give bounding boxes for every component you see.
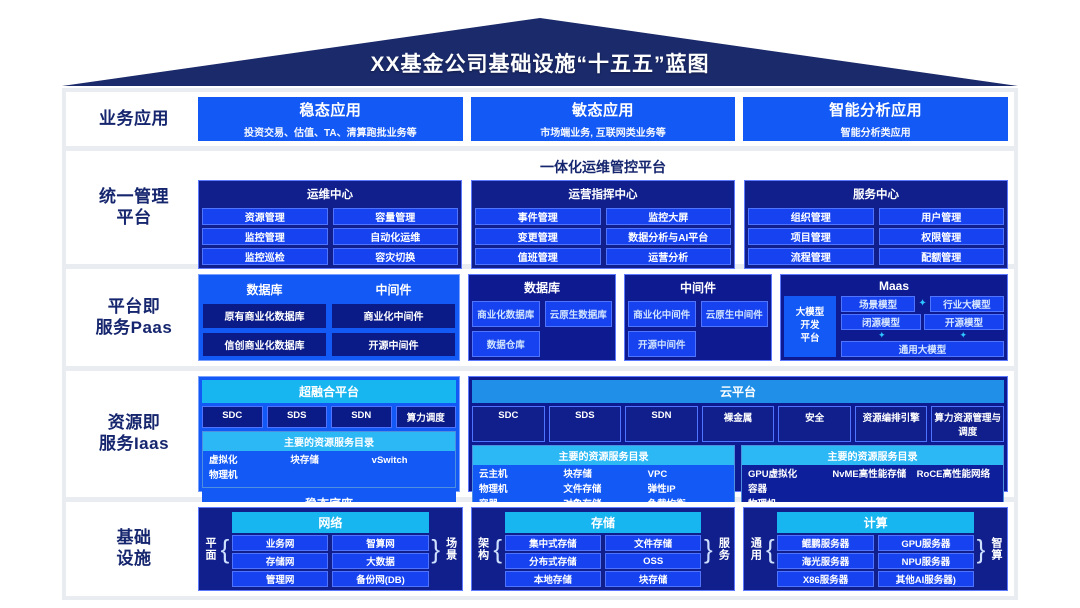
- app-card-stable[interactable]: 稳态应用 投资交易、估值、TA、清算跑批业务等: [198, 97, 463, 141]
- row-paas: 平台即 服务Paas 数据库 原有商业化数据库 信创商业化数据库 中间件 商业化…: [66, 269, 1014, 366]
- tile-big-data-network[interactable]: 大数据: [332, 553, 428, 569]
- catalog-column: 块存储: [290, 455, 367, 483]
- cap-cloud-sdc[interactable]: SDC: [472, 406, 545, 442]
- center-operations-command-line: 值班管理 运营分析: [475, 248, 731, 265]
- tile-monitoring-inspection[interactable]: 监控巡检: [202, 248, 328, 265]
- row-body-infrastructure: 平面 { 网络 业务网 智算网 存储网 大数据: [198, 507, 1008, 591]
- item-physical-machine[interactable]: 物理机: [209, 470, 286, 483]
- tile-commercial-database[interactable]: 商业化数据库: [472, 301, 540, 327]
- hyperconverged-platform-title: 超融合平台: [202, 380, 456, 403]
- cloud-catalog-general-title: 主要的资源服务目录: [473, 446, 734, 465]
- tile-distributed-storage[interactable]: 分布式存储: [505, 553, 601, 569]
- tile-x86-server[interactable]: X86服务器: [777, 571, 873, 587]
- compute-right-label: 智算: [988, 512, 1004, 586]
- paas-cloud-middleware-line: 商业化中间件 云原生中间件: [628, 301, 768, 327]
- tile-permission-management[interactable]: 权限管理: [879, 228, 1005, 245]
- center-operations-command-title: 运营指挥中心: [475, 184, 731, 205]
- row-label-iaas: 资源即 服务Iaas: [70, 376, 198, 492]
- row-label-paas: 平台即 服务Paas: [70, 274, 198, 361]
- row-body-paas: 数据库 原有商业化数据库 信创商业化数据库 中间件 商业化中间件 开源中间件 数…: [198, 274, 1008, 361]
- storage-line: 集中式存储 文件存储: [505, 535, 702, 551]
- storage-core: 存储 集中式存储 文件存储 分布式存储 OSS 本地存储: [505, 512, 702, 586]
- paas-cloud-database-title: 数据库: [472, 278, 612, 298]
- item-physical-machine[interactable]: 物理机: [479, 484, 559, 497]
- architecture-panel: 业务应用 稳态应用 投资交易、估值、TA、清算跑批业务等 敏态应用 市场端业务,…: [62, 88, 1018, 600]
- management-platform-wrapper: 一体化运维管控平台 运维中心 资源管理 容量管理 监控管理: [198, 156, 1008, 259]
- tile-event-management[interactable]: 事件管理: [475, 208, 601, 225]
- center-ops-line: 监控管理 自动化运维: [202, 228, 458, 245]
- tile-process-management[interactable]: 流程管理: [748, 248, 874, 265]
- center-ops-line: 监控巡检 容灾切换: [202, 248, 458, 265]
- app-card-agile-subtitle: 市场端业务, 互联网类业务等: [540, 124, 666, 139]
- cloud-platform-title: 云平台: [472, 380, 1004, 403]
- tile-operations-analysis[interactable]: 运营分析: [606, 248, 732, 265]
- item-vpc[interactable]: VPC: [648, 469, 728, 482]
- maas-arrow-row: ✦ ✦: [841, 332, 1004, 339]
- row-business-application: 业务应用 稳态应用 投资交易、估值、TA、清算跑批业务等 敏态应用 市场端业务,…: [66, 92, 1014, 146]
- paas-cloud-middleware-group: 中间件 商业化中间件 云原生中间件 开源中间件: [624, 274, 772, 361]
- row-infrastructure: 基础 设施 平面 { 网络 业务网 智算网 存储网: [66, 502, 1014, 596]
- catalog-column: 虚拟化 物理机: [209, 455, 286, 483]
- maas-row-source: 闭源模型 开源模型: [841, 314, 1004, 330]
- left-brace-icon: {: [765, 512, 775, 586]
- row-body-business-application: 稳态应用 投资交易、估值、TA、清算跑批业务等 敏态应用 市场端业务, 互联网类…: [198, 97, 1008, 141]
- maas-title: Maas: [784, 278, 1004, 296]
- hyperconverged-catalogs: 主要的资源服务目录 虚拟化 物理机 块存储 vSwitc: [202, 431, 456, 488]
- maas-model-stack: 场景模型 ✦ 行业大模型 闭源模型 开源模型 ✦ ✦: [841, 296, 1004, 357]
- tile-storage-network[interactable]: 存储网: [232, 553, 328, 569]
- paas-cloud-middleware-title: 中间件: [628, 278, 768, 298]
- row-iaas: 资源即 服务Iaas 超融合平台 SDC SDS SDN 算力调度 主要的资源服…: [66, 371, 1014, 497]
- row-body-iaas: 超融合平台 SDC SDS SDN 算力调度 主要的资源服务目录 虚拟化: [198, 376, 1008, 492]
- app-card-intelligent-analysis-subtitle: 智能分析类应用: [841, 124, 911, 139]
- row-body-unified-management-platform: 一体化运维管控平台 运维中心 资源管理 容量管理 监控管理: [198, 156, 1008, 259]
- plus-connector-icon: ✦: [918, 299, 926, 309]
- paas-cloud-native-blocks: 数据库 商业化数据库 云原生数据库 数据仓库: [468, 274, 772, 361]
- right-brace-icon: }: [431, 512, 441, 586]
- paas-cloud-database-line: 数据仓库: [472, 331, 612, 357]
- tile-closed-source-model[interactable]: 闭源模型: [841, 314, 921, 330]
- hyperconverged-catalog-title: 主要的资源服务目录: [203, 432, 455, 451]
- tile-scenario-model[interactable]: 场景模型: [841, 296, 915, 312]
- tile-disaster-recovery-switch[interactable]: 容灾切换: [333, 248, 459, 265]
- paas-cloud-database-group: 数据库 商业化数据库 云原生数据库 数据仓库: [468, 274, 616, 361]
- center-service-line: 项目管理 权限管理: [748, 228, 1004, 245]
- item-container-ai[interactable]: 容器: [748, 484, 828, 497]
- left-brace-icon: {: [220, 512, 230, 586]
- tile-commercial-middleware[interactable]: 商业化中间件: [332, 304, 455, 328]
- maas-body: 大模型 开发 平台 场景模型 ✦ 行业大模型 闭源模型 开源模型: [784, 296, 1004, 357]
- paas-legacy-middleware-title: 中间件: [332, 279, 455, 299]
- tile-oss[interactable]: OSS: [605, 553, 701, 569]
- tile-automated-ops[interactable]: 自动化运维: [333, 228, 459, 245]
- compute-line: 鲲鹏服务器 GPU服务器: [777, 535, 974, 551]
- maas-row-scenario: 场景模型 ✦ 行业大模型: [841, 296, 1004, 312]
- infra-compute-block: 通用 { 计算 鲲鹏服务器 GPU服务器 海光服务器 NPU服务器: [743, 507, 1008, 591]
- tile-xinchuang-commercial-database[interactable]: 信创商业化数据库: [203, 333, 326, 357]
- app-card-intelligent-analysis-title: 智能分析应用: [829, 99, 922, 120]
- tile-backup-network-db[interactable]: 备份网(DB): [332, 571, 428, 587]
- item-block-storage[interactable]: 块存储: [563, 469, 643, 482]
- cap-compute-scheduling[interactable]: 算力调度: [396, 406, 457, 428]
- center-operations-command-line: 变更管理 数据分析与AI平台: [475, 228, 731, 245]
- item-gpu-virtualization[interactable]: GPU虚拟化: [748, 469, 828, 482]
- center-service-line: 组织管理 用户管理: [748, 208, 1004, 225]
- center-ops-title: 运维中心: [202, 184, 458, 205]
- center-operations-command[interactable]: 运营指挥中心 事件管理 监控大屏 变更管理 数据分析与AI平台: [471, 180, 735, 269]
- center-service-line: 流程管理 配额管理: [748, 248, 1004, 265]
- tile-commercial-middleware-cloud[interactable]: 商业化中间件: [628, 301, 696, 327]
- hyperconverged-resource-catalog: 主要的资源服务目录 虚拟化 物理机 块存储 vSwitc: [202, 431, 456, 488]
- item-block-storage[interactable]: 块存储: [290, 455, 367, 468]
- app-card-stable-subtitle: 投资交易、估值、TA、清算跑批业务等: [244, 124, 417, 139]
- management-centers: 运维中心 资源管理 容量管理 监控管理 自动化运维: [198, 180, 1008, 269]
- cloud-capability-row: SDC SDS SDN 裸金属 安全 资源编排引擎 算力资源管理与调度: [472, 406, 1004, 442]
- tile-management-network[interactable]: 管理网: [232, 571, 328, 587]
- tile-opensource-middleware-cloud[interactable]: 开源中间件: [628, 331, 696, 357]
- tile-duty-management[interactable]: 值班管理: [475, 248, 601, 265]
- center-service[interactable]: 服务中心 组织管理 用户管理 项目管理 权限管理: [744, 180, 1008, 269]
- item-vswitch[interactable]: vSwitch: [372, 455, 449, 468]
- paas-cloud-database-grid: 商业化数据库 云原生数据库 数据仓库: [472, 301, 612, 357]
- right-brace-icon: }: [703, 512, 713, 586]
- center-ops[interactable]: 运维中心 资源管理 容量管理 监控管理 自动化运维: [198, 180, 462, 269]
- paas-cloud-middleware-grid: 商业化中间件 云原生中间件 开源中间件: [628, 301, 768, 357]
- cap-resource-orchestration-engine[interactable]: 资源编排引擎: [855, 406, 928, 442]
- network-left-label: 平面: [202, 512, 218, 586]
- tile-change-management[interactable]: 变更管理: [475, 228, 601, 245]
- hyperconverged-capability-row: SDC SDS SDN 算力调度: [202, 406, 456, 428]
- paas-cloud-database-line: 商业化数据库 云原生数据库: [472, 301, 612, 327]
- compute-title: 计算: [777, 512, 974, 533]
- tile-general-large-model[interactable]: 通用大模型: [841, 341, 1004, 357]
- item-file-storage[interactable]: 文件存储: [563, 484, 643, 497]
- tile-opensource-middleware[interactable]: 开源中间件: [332, 333, 455, 357]
- cap-bare-metal[interactable]: 裸金属: [702, 406, 775, 442]
- compute-line: X86服务器 其他AI服务器): [777, 571, 974, 587]
- tile-block-storage[interactable]: 块存储: [605, 571, 701, 587]
- roof-header: XX基金公司基础设施“十五五”蓝图: [62, 18, 1018, 86]
- storage-line: 本地存储 块存储: [505, 571, 702, 587]
- paas-cloud-middleware-line: 开源中间件: [628, 331, 768, 357]
- paas-legacy-middleware-column: 中间件 商业化中间件 开源中间件: [332, 279, 455, 356]
- center-ops-grid: 资源管理 容量管理 监控管理 自动化运维 监控巡检 容灾切换: [202, 208, 458, 265]
- tile-ai-compute-network[interactable]: 智算网: [332, 535, 428, 551]
- infra-storage-block: 架构 { 存储 集中式存储 文件存储 分布式存储 OSS: [471, 507, 736, 591]
- maas-row-general: 通用大模型: [841, 341, 1004, 357]
- cloud-platform-block: 云平台 SDC SDS SDN 裸金属 安全 资源编排引擎 算力资源管理与调度 …: [468, 376, 1008, 492]
- hyperconverged-catalog-body: 虚拟化 物理机 块存储 vSwitch: [203, 451, 455, 487]
- storage-right-label: 服务: [715, 512, 731, 586]
- cap-compute-resource-management[interactable]: 算力资源管理与调度: [931, 406, 1004, 442]
- item-nvme-high-performance-storage[interactable]: NvME高性能存储: [832, 469, 912, 482]
- paas-legacy-block: 数据库 原有商业化数据库 信创商业化数据库 中间件 商业化中间件 开源中间件: [198, 274, 460, 361]
- tile-data-warehouse[interactable]: 数据仓库: [472, 331, 540, 357]
- cap-cloud-sdn[interactable]: SDN: [625, 406, 698, 442]
- network-title: 网络: [232, 512, 429, 533]
- tile-cloud-native-database[interactable]: 云原生数据库: [545, 301, 613, 327]
- storage-left-label: 架构: [475, 512, 491, 586]
- tile-monitoring-management[interactable]: 监控管理: [202, 228, 328, 245]
- tile-user-management[interactable]: 用户管理: [879, 208, 1005, 225]
- app-card-agile[interactable]: 敏态应用 市场端业务, 互联网类业务等: [471, 97, 736, 141]
- network-line: 业务网 智算网: [232, 535, 429, 551]
- cap-security[interactable]: 安全: [778, 406, 851, 442]
- center-operations-command-line: 事件管理 监控大屏: [475, 208, 731, 225]
- app-card-agile-title: 敏态应用: [572, 99, 634, 120]
- maas-block: Maas 大模型 开发 平台 场景模型 ✦ 行业大模型 闭源模型 开源模型: [780, 274, 1008, 361]
- row-label-infrastructure: 基础 设施: [70, 507, 198, 591]
- tile-monitoring-dashboard[interactable]: 监控大屏: [606, 208, 732, 225]
- tile-open-source-model[interactable]: 开源模型: [924, 314, 1004, 330]
- integrated-ops-platform-title: 一体化运维管控平台: [198, 156, 1008, 180]
- tile-resource-management[interactable]: 资源管理: [202, 208, 328, 225]
- tile-npu-server[interactable]: NPU服务器: [878, 553, 974, 569]
- center-service-grid: 组织管理 用户管理 项目管理 权限管理 流程管理 配额管理: [748, 208, 1004, 265]
- tile-business-network[interactable]: 业务网: [232, 535, 328, 551]
- storage-title: 存储: [505, 512, 702, 533]
- row-label-unified-management-platform: 统一管理 平台: [70, 156, 198, 259]
- tile-gpu-server[interactable]: GPU服务器: [878, 535, 974, 551]
- blueprint-canvas: XX基金公司基础设施“十五五”蓝图 业务应用 稳态应用 投资交易、估值、TA、清…: [0, 0, 1080, 608]
- tile-quota-management[interactable]: 配额管理: [879, 248, 1005, 265]
- cap-sdn[interactable]: SDN: [331, 406, 392, 428]
- paas-legacy-database-title: 数据库: [203, 279, 326, 299]
- tile-industry-large-model[interactable]: 行业大模型: [930, 296, 1004, 312]
- cap-sdc[interactable]: SDC: [202, 406, 263, 428]
- tile-file-storage[interactable]: 文件存储: [605, 535, 701, 551]
- arrow-up-icon: ✦: [878, 331, 886, 340]
- network-line: 管理网 备份网(DB): [232, 571, 429, 587]
- row-unified-management-platform: 统一管理 平台 一体化运维管控平台 运维中心 资源管理 容量管理: [66, 151, 1014, 264]
- tile-kunpeng-server[interactable]: 鲲鹏服务器: [777, 535, 873, 551]
- tile-project-management[interactable]: 项目管理: [748, 228, 874, 245]
- storage-line: 分布式存储 OSS: [505, 553, 702, 569]
- center-service-title: 服务中心: [748, 184, 1004, 205]
- network-right-label: 场景: [443, 512, 459, 586]
- arrow-up-icon: ✦: [959, 331, 967, 340]
- compute-left-label: 通用: [747, 512, 763, 586]
- item-virtualization[interactable]: 虚拟化: [209, 455, 286, 468]
- cap-sds[interactable]: SDS: [267, 406, 328, 428]
- hyperconverged-platform-block: 超融合平台 SDC SDS SDN 算力调度 主要的资源服务目录 虚拟化: [198, 376, 460, 492]
- network-line: 存储网 大数据: [232, 553, 429, 569]
- center-ops-line: 资源管理 容量管理: [202, 208, 458, 225]
- tile-hygon-server[interactable]: 海光服务器: [777, 553, 873, 569]
- app-card-stable-title: 稳态应用: [299, 99, 361, 120]
- app-card-intelligent-analysis[interactable]: 智能分析应用 智能分析类应用: [743, 97, 1008, 141]
- tile-organization-management[interactable]: 组织管理: [748, 208, 874, 225]
- tile-centralized-storage[interactable]: 集中式存储: [505, 535, 601, 551]
- right-brace-icon: }: [976, 512, 986, 586]
- tile-placeholder: [701, 331, 769, 357]
- tile-capacity-management[interactable]: 容量管理: [333, 208, 459, 225]
- page-title: XX基金公司基础设施“十五五”蓝图: [62, 48, 1018, 78]
- catalog-column: vSwitch: [372, 455, 449, 483]
- storage-grid: 集中式存储 文件存储 分布式存储 OSS 本地存储 块存储: [505, 535, 702, 587]
- cloud-catalog-ai-title: 主要的资源服务目录: [742, 446, 1003, 465]
- paas-legacy-database-column: 数据库 原有商业化数据库 信创商业化数据库: [203, 279, 326, 356]
- tile-data-analysis-ai-platform[interactable]: 数据分析与AI平台: [606, 228, 732, 245]
- network-core: 网络 业务网 智算网 存储网 大数据 管理网: [232, 512, 429, 586]
- tile-cloud-native-middleware[interactable]: 云原生中间件: [701, 301, 769, 327]
- maas-dev-platform[interactable]: 大模型 开发 平台: [784, 296, 836, 357]
- compute-grid: 鲲鹏服务器 GPU服务器 海光服务器 NPU服务器 X86服务器 其他AI服务器…: [777, 535, 974, 587]
- center-operations-command-grid: 事件管理 监控大屏 变更管理 数据分析与AI平台 值班管理 运营分析: [475, 208, 731, 265]
- item-roce-high-performance-network[interactable]: RoCE高性能网络: [917, 469, 997, 482]
- tile-local-storage[interactable]: 本地存储: [505, 571, 601, 587]
- tile-placeholder: [545, 331, 613, 357]
- left-brace-icon: {: [493, 512, 503, 586]
- compute-core: 计算 鲲鹏服务器 GPU服务器 海光服务器 NPU服务器 X86: [777, 512, 974, 586]
- row-label-business-application: 业务应用: [70, 97, 198, 141]
- item-cloud-host[interactable]: 云主机: [479, 469, 559, 482]
- tile-other-ai-server[interactable]: 其他AI服务器): [878, 571, 974, 587]
- cap-cloud-sds[interactable]: SDS: [549, 406, 622, 442]
- network-grid: 业务网 智算网 存储网 大数据 管理网 备份网(DB): [232, 535, 429, 587]
- compute-line: 海光服务器 NPU服务器: [777, 553, 974, 569]
- tile-legacy-commercial-database[interactable]: 原有商业化数据库: [203, 304, 326, 328]
- infra-network-block: 平面 { 网络 业务网 智算网 存储网 大数据: [198, 507, 463, 591]
- item-elastic-ip[interactable]: 弹性IP: [648, 484, 728, 497]
